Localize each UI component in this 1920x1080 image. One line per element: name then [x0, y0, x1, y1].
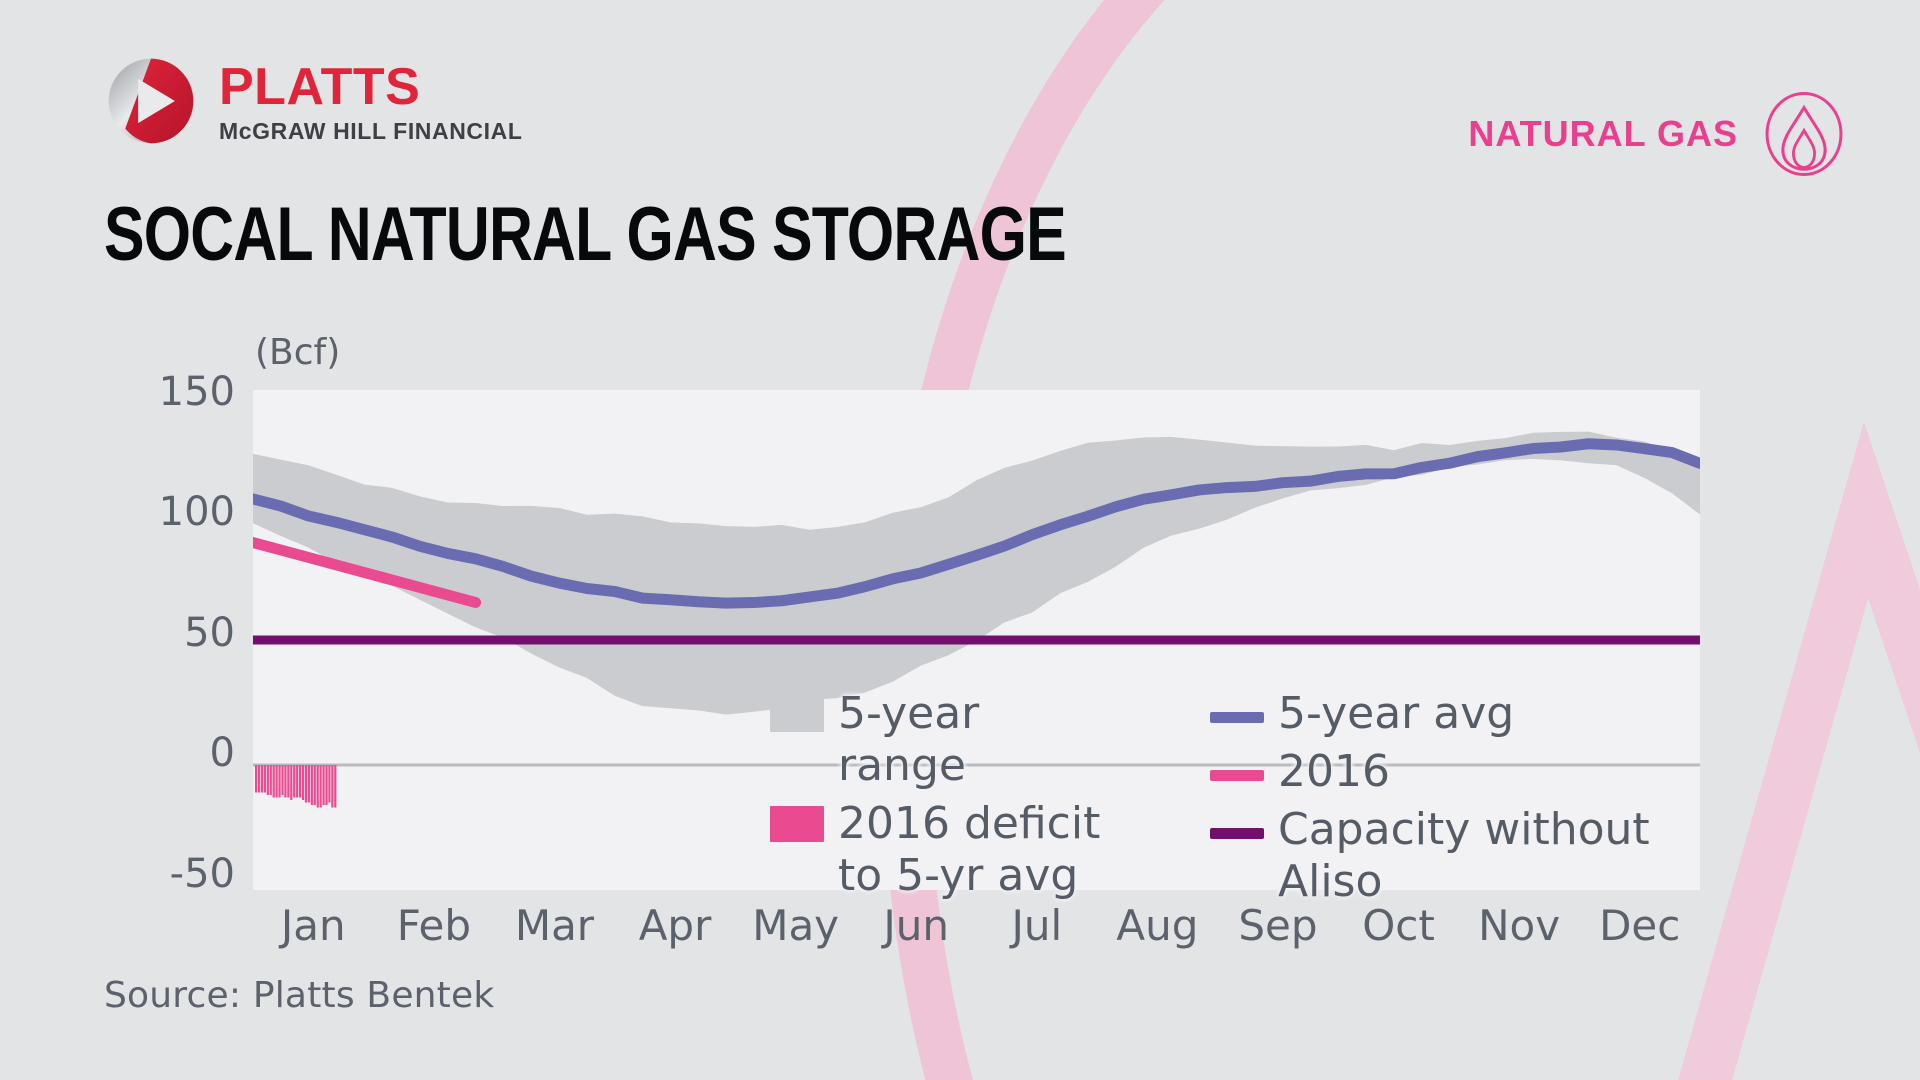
bar-2016-deficit — [270, 765, 272, 795]
bar-2016-deficit — [328, 765, 330, 803]
bar-2016-deficit — [305, 765, 307, 803]
bar-2016-deficit — [273, 765, 275, 798]
legend-label-capacity: Capacity without Aliso — [1278, 804, 1710, 908]
legend-item-2016-deficit: 2016 deficit to 5-yr avg — [770, 798, 1110, 902]
legend-line-2016 — [1210, 770, 1264, 781]
bar-2016-deficit — [302, 765, 304, 800]
legend-item-capacity: Capacity without Aliso — [1210, 804, 1710, 908]
y-axis-unit-label: (Bcf) — [255, 332, 340, 373]
y-tick-150: 150 — [115, 372, 235, 412]
x-tick-jul: Jul — [967, 905, 1107, 947]
legend-line-capacity — [1210, 828, 1264, 839]
y-tick-100: 100 — [115, 492, 235, 532]
legend-label-5-year-range: 5-year range — [838, 688, 1110, 792]
legend-item-5-year-avg: 5-year avg — [1210, 688, 1710, 740]
bar-2016-deficit — [281, 765, 283, 795]
chart: (Bcf) 150 100 50 0 -50 JanFebMarAprMayJu… — [0, 0, 1920, 1080]
bar-2016-deficit — [317, 765, 319, 808]
bar-2016-deficit — [299, 765, 301, 798]
source-note: Source: Platts Bentek — [104, 975, 494, 1016]
bar-2016-deficit — [276, 765, 278, 798]
y-tick-50: 50 — [115, 613, 235, 653]
legend-item-2016: 2016 — [1210, 746, 1710, 798]
bar-2016-deficit — [255, 765, 257, 793]
bar-2016-deficit — [308, 765, 310, 803]
bar-2016-deficit — [287, 765, 289, 798]
bar-2016-deficit — [284, 765, 286, 798]
bar-2016-deficit — [296, 765, 298, 798]
x-tick-jun: Jun — [846, 905, 986, 947]
y-axis-ticks: 150 100 50 0 -50 — [105, 0, 235, 1080]
legend-label-5-year-avg: 5-year avg — [1278, 688, 1514, 740]
legend-swatch-range — [770, 696, 824, 732]
bar-2016-deficit — [258, 765, 260, 793]
x-tick-jan: Jan — [243, 905, 383, 947]
y-tick-0: 0 — [115, 733, 235, 773]
bar-2016-deficit — [264, 765, 266, 793]
bar-2016-deficit — [325, 765, 327, 805]
x-tick-apr: Apr — [605, 905, 745, 947]
x-tick-may: May — [726, 905, 866, 947]
bar-2016-deficit — [314, 765, 316, 805]
y-tick--50: -50 — [115, 854, 235, 894]
x-tick-aug: Aug — [1087, 905, 1227, 947]
legend-label-2016-deficit: 2016 deficit to 5-yr avg — [838, 798, 1100, 902]
bar-2016-deficit — [261, 765, 263, 793]
bar-2016-deficit — [311, 765, 313, 805]
bar-2016-deficit — [267, 765, 269, 795]
legend-swatch-deficit — [770, 806, 824, 842]
bar-2016-deficit — [278, 765, 280, 798]
legend-label-2016: 2016 — [1278, 746, 1390, 798]
bar-2016-deficit — [293, 765, 295, 798]
infographic-canvas: PLATTS McGRAW HILL FINANCIAL NATURAL GAS… — [0, 0, 1920, 1080]
legend-line-5-year-avg — [1210, 712, 1264, 723]
bar-2016-deficit — [322, 765, 324, 805]
bar-2016-deficit — [331, 765, 333, 808]
legend-item-5-year-range: 5-year range — [770, 688, 1110, 792]
x-tick-mar: Mar — [484, 905, 624, 947]
bar-2016-deficit — [290, 765, 292, 800]
x-tick-feb: Feb — [364, 905, 504, 947]
bar-2016-deficit — [320, 765, 322, 808]
bar-2016-deficit — [334, 765, 336, 808]
